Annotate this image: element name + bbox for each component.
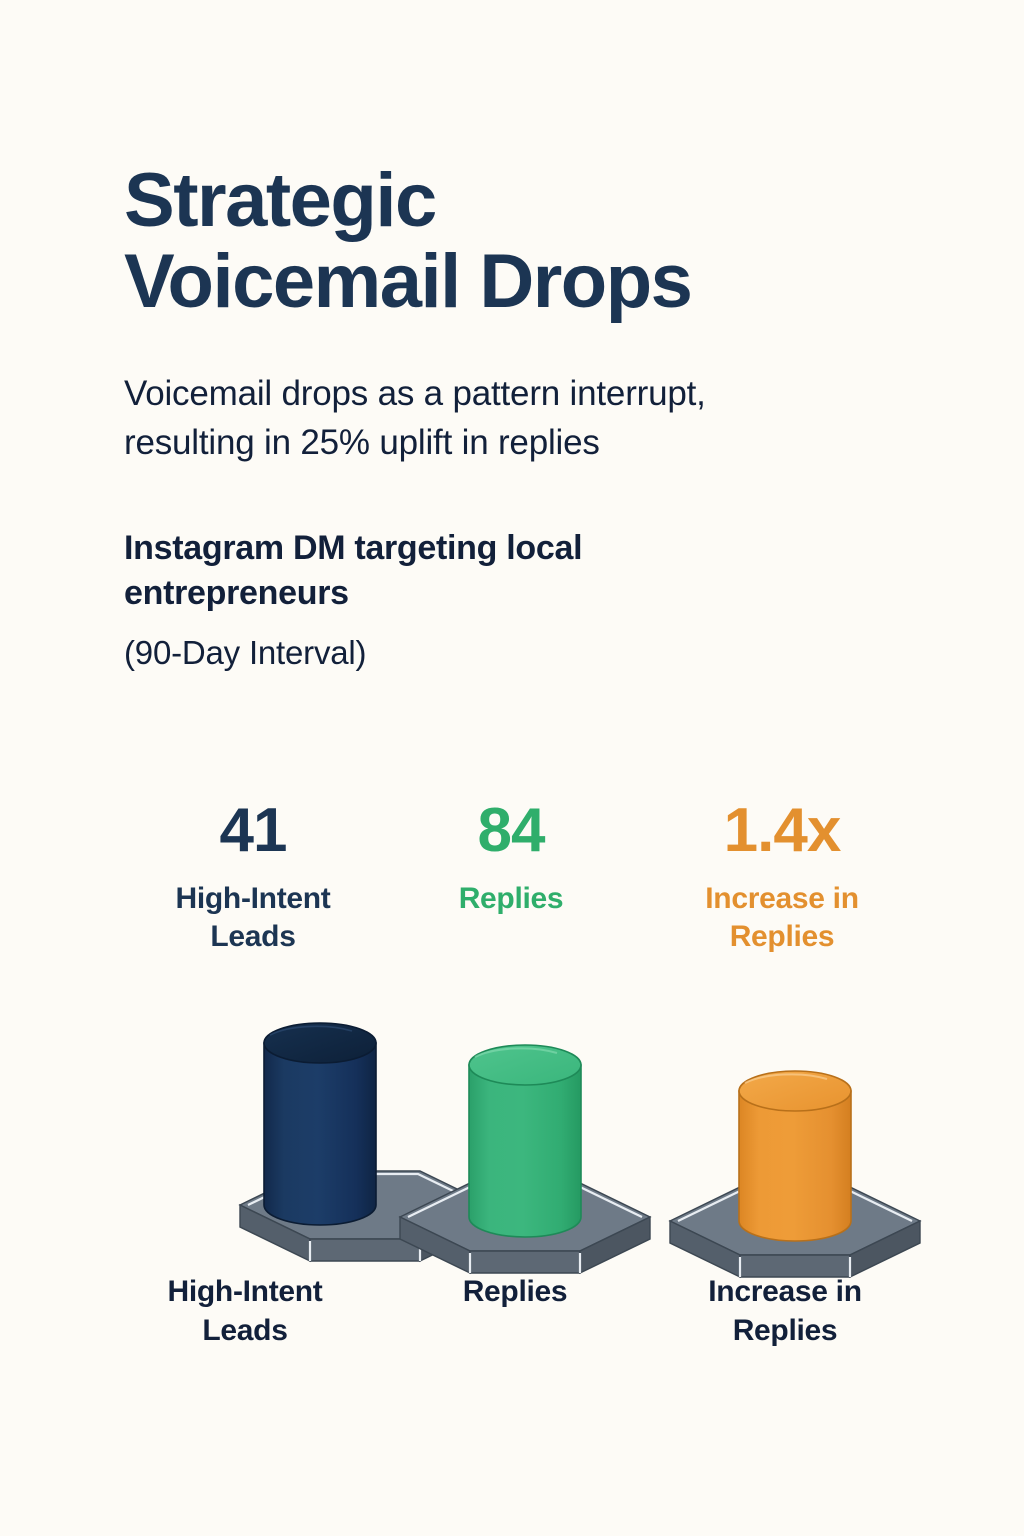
kpi-increase-in-replies: 1.4x Increase in Replies	[640, 800, 924, 957]
cylinder	[264, 1023, 376, 1225]
section-heading: Instagram DM targeting local entrepreneu…	[124, 526, 764, 616]
kpi-label: Increase in Replies	[640, 880, 924, 957]
kpi-value: 41	[124, 800, 382, 862]
cylinder-bar-chart	[100, 1005, 930, 1285]
infographic-page: Strategic Voicemail Drops Voicemail drop…	[0, 0, 1024, 1536]
page-subtitle: Voicemail drops as a pattern interrupt, …	[124, 369, 884, 468]
cylinder	[469, 1045, 581, 1237]
page-title: Strategic Voicemail Drops	[124, 160, 924, 323]
kpi-row: 41 High-Intent Leads 84 Replies 1.4x Inc…	[124, 800, 924, 957]
chart-category-label: Replies	[380, 1272, 650, 1350]
kpi-label: High-Intent Leads	[124, 880, 382, 957]
chart-bar-increase-in-replies	[670, 1071, 920, 1277]
cylinder	[739, 1071, 851, 1241]
kpi-high-intent-leads: 41 High-Intent Leads	[124, 800, 382, 957]
chart-category-label: Increase in Replies	[650, 1272, 920, 1350]
kpi-value: 1.4x	[640, 800, 924, 862]
chart-category-label: High-Intent Leads	[110, 1272, 380, 1350]
chart-category-labels: High-Intent Leads Replies Increase in Re…	[110, 1272, 920, 1350]
header-block: Strategic Voicemail Drops Voicemail drop…	[124, 160, 924, 675]
kpi-value: 84	[382, 800, 640, 862]
section-subheading-interval: (90-Day Interval)	[124, 632, 924, 675]
kpi-replies: 84 Replies	[382, 800, 640, 918]
chart-bar-replies	[400, 1045, 650, 1273]
kpi-label: Replies	[382, 880, 640, 918]
